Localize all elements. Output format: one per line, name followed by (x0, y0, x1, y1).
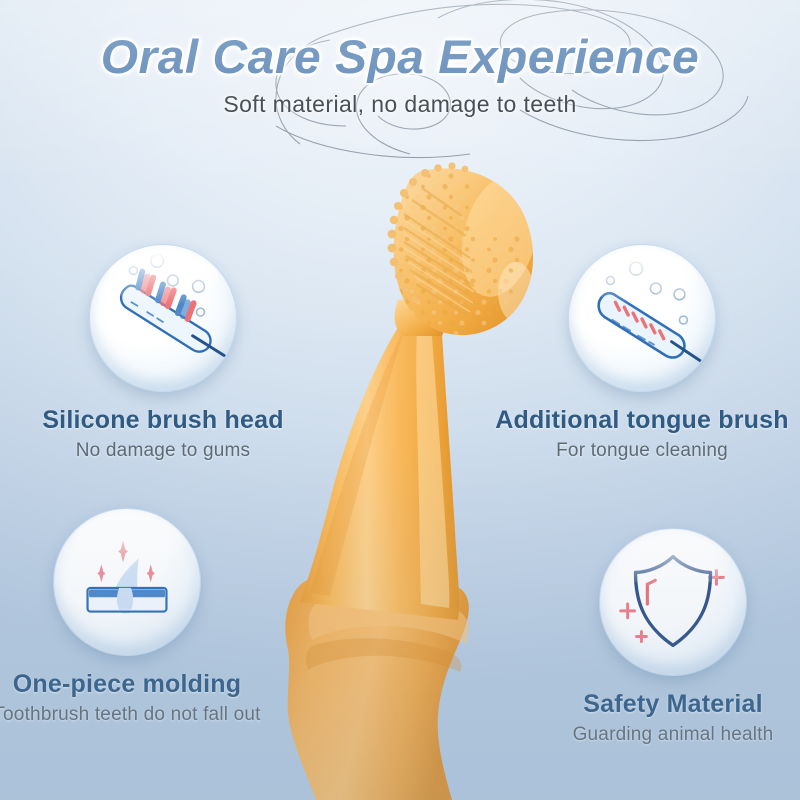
feature-icon-wrap (599, 528, 747, 676)
header: Oral Care Spa Experience Soft material, … (0, 32, 800, 118)
product-infographic-poster: Silicone brush head No damage to gums (0, 0, 800, 800)
feature-additional-tongue-brush: Additional tongue brush For tongue clean… (477, 244, 800, 462)
tongue-brush-icon (568, 244, 716, 392)
page-subtitle: Soft material, no damage to teeth (0, 91, 800, 118)
feature-one-piece-molding: One-piece molding Toothbrush teeth do no… (0, 508, 292, 726)
feature-icon-wrap (568, 244, 716, 392)
feature-subtitle: Guarding animal health (508, 724, 800, 746)
feature-icon-wrap (53, 508, 201, 656)
feature-icon-wrap (89, 244, 237, 392)
feature-safety-material: Safety Material Guarding animal health (508, 528, 800, 746)
feature-subtitle: No damage to gums (0, 440, 328, 462)
feature-subtitle: For tongue cleaning (477, 440, 800, 462)
feature-subtitle: Toothbrush teeth do not fall out (0, 704, 292, 726)
bristle-molding-icon (53, 508, 201, 656)
feature-silicone-brush-head: Silicone brush head No damage to gums (0, 244, 328, 462)
feature-title: Safety Material (508, 690, 800, 719)
feature-title: Additional tongue brush (477, 406, 800, 435)
feature-title: Silicone brush head (0, 406, 328, 435)
shield-icon (599, 528, 747, 676)
feature-title: One-piece molding (0, 670, 292, 699)
page-title: Oral Care Spa Experience (0, 32, 800, 81)
toothbrush-bristles-icon (89, 244, 237, 392)
